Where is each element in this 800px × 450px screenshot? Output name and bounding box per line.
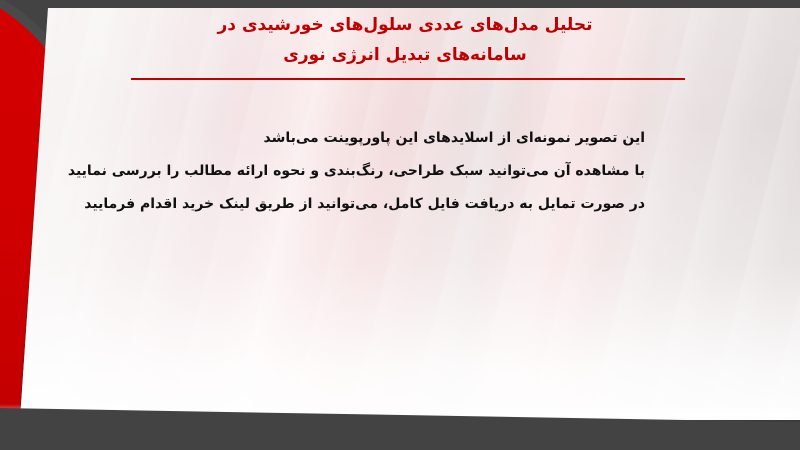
title-underline-rule	[131, 78, 685, 80]
body-line-2: با مشاهده آن می‌توانید سبک طراحی، رنگ‌بن…	[80, 155, 645, 188]
body-line-3: در صورت تمایل به دریافت فایل کامل، می‌تو…	[80, 188, 645, 221]
slide-content: تحلیل مدل‌های عددی سلول‌های خورشیدی در س…	[0, 0, 800, 450]
slide-title: تحلیل مدل‌های عددی سلول‌های خورشیدی در س…	[120, 10, 690, 70]
slide-title-line-2: سامانه‌های تبدیل انرژی نوری	[120, 40, 690, 70]
presentation-slide: تحلیل مدل‌های عددی سلول‌های خورشیدی در س…	[0, 0, 800, 450]
slide-title-line-1: تحلیل مدل‌های عددی سلول‌های خورشیدی در	[120, 10, 690, 40]
body-line-1: این تصویر نمونه‌ای از اسلایدهای این پاور…	[80, 122, 645, 155]
slide-body: این تصویر نمونه‌ای از اسلایدهای این پاور…	[80, 122, 645, 221]
